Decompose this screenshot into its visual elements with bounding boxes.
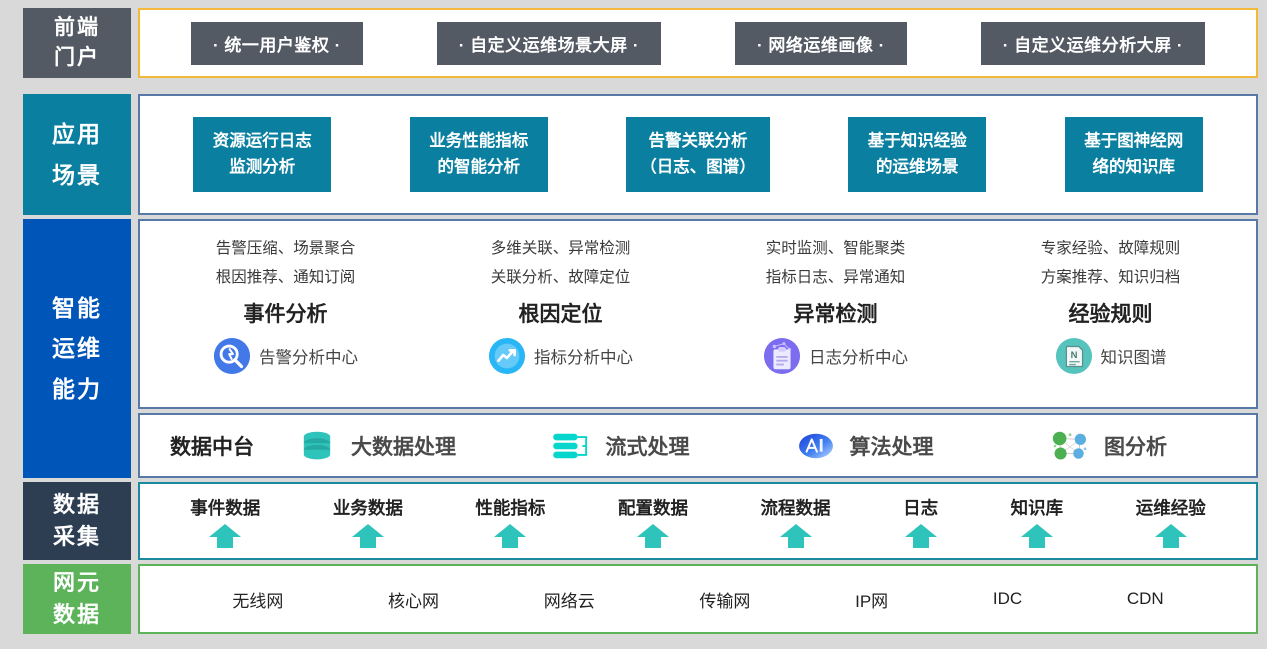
layer-label-data-collection: 数据 采集 — [23, 482, 131, 560]
tile-line1: 基于图神经网 — [1079, 129, 1189, 155]
capability-column-root-cause: 多维关联、异常检测 关联分析、故障定位 根因定位 指标分析中心 — [423, 235, 698, 399]
collection-label: 知识库 — [1011, 495, 1064, 520]
capability-column-anomaly-detection: 实时监测、智能聚类 指标日志、异常通知 异常检测 — [698, 235, 973, 399]
metric-analysis-icon — [488, 337, 526, 375]
svg-text:N: N — [1070, 350, 1077, 361]
data-platform-title: 数据中台 — [170, 431, 254, 461]
data-platform-item-graph[interactable]: 图分析 — [986, 430, 1230, 462]
layer-label-aiops-line1: 智能 — [52, 288, 102, 328]
app-scenario-tile[interactable]: 告警关联分析 （日志、图谱） — [626, 117, 770, 192]
capability-desc-line1: 多维关联、异常检测 — [491, 235, 631, 264]
layer-label-aiops-line2: 运维 — [52, 328, 102, 368]
arrow-up-icon — [779, 523, 813, 549]
capability-desc-line2: 方案推荐、知识归档 — [1041, 264, 1181, 293]
layer-label-collect-line2: 采集 — [53, 521, 101, 553]
arrow-up-icon — [904, 523, 938, 549]
data-platform-label: 大数据处理 — [351, 431, 456, 461]
collection-label: 性能指标 — [475, 495, 545, 520]
layer-label-aiops-line3: 能力 — [52, 369, 102, 409]
portal-chip-row: · 统一用户鉴权 · · 自定义运维场景大屏 · · 网络运维画像 · · 自定… — [140, 10, 1256, 76]
collection-item[interactable]: 业务数据 — [333, 495, 403, 549]
aiops-capability-row: 告警压缩、场景聚合 根因推荐、通知订阅 事件分析 告警分析中心 多维关联、异常 — [140, 221, 1256, 407]
portal-panel: · 统一用户鉴权 · · 自定义运维场景大屏 · · 网络运维画像 · · 自定… — [138, 8, 1258, 78]
network-element-row: 无线网 核心网 网络云 传输网 IP网 IDC CDN — [140, 566, 1256, 632]
capability-desc-line1: 专家经验、故障规则 — [1041, 235, 1181, 264]
collection-label: 配置数据 — [618, 495, 688, 520]
collection-item[interactable]: 运维经验 — [1136, 495, 1206, 549]
capability-column-event-analysis: 告警压缩、场景聚合 根因推荐、通知订阅 事件分析 告警分析中心 — [148, 235, 423, 399]
architecture-diagram: 前端 门户 · 统一用户鉴权 · · 自定义运维场景大屏 · · 网络运维画像 … — [0, 0, 1267, 649]
collection-item[interactable]: 日志 — [903, 495, 938, 549]
tile-line2: 的运维场景 — [862, 155, 972, 181]
data-platform-item-algorithm[interactable]: 算法处理 — [742, 430, 986, 462]
capability-desc-line2: 关联分析、故障定位 — [491, 264, 631, 293]
collection-label: 运维经验 — [1136, 495, 1206, 520]
data-collection-row: 事件数据 业务数据 性能指标 配置数据 流程数据 日志 — [140, 484, 1256, 558]
app-scenario-tile[interactable]: 资源运行日志 监测分析 — [193, 117, 331, 192]
capability-product[interactable]: 指标分析中心 — [488, 337, 633, 375]
tile-line2: 监测分析 — [207, 155, 317, 181]
layer-label-app-line1: 应用 — [52, 114, 102, 154]
collection-label: 日志 — [903, 495, 938, 520]
capability-product[interactable]: 告警分析中心 — [213, 337, 358, 375]
tile-line1: 业务性能指标 — [424, 129, 534, 155]
capability-product[interactable]: 日志分析中心 — [763, 337, 908, 375]
tile-line2: 的智能分析 — [424, 155, 534, 181]
portal-chip[interactable]: · 网络运维画像 · — [735, 22, 907, 65]
network-element-item[interactable]: CDN — [1127, 589, 1164, 609]
capability-product-label: 知识图谱 — [1101, 344, 1167, 368]
capability-column-experience-rules: 专家经验、故障规则 方案推荐、知识归档 经验规则 N 知识图谱 — [973, 235, 1248, 399]
tile-line1: 告警关联分析 — [640, 129, 756, 155]
network-element-item[interactable]: IDC — [993, 589, 1022, 609]
capability-title: 异常检测 — [794, 298, 878, 328]
data-platform-panel: 数据中台 大数据处理 — [138, 413, 1258, 478]
arrow-up-icon — [1020, 523, 1054, 549]
network-element-item[interactable]: 传输网 — [699, 587, 750, 612]
capability-desc-line2: 指标日志、异常通知 — [766, 264, 906, 293]
arrow-up-icon — [1154, 523, 1188, 549]
capability-product[interactable]: N 知识图谱 — [1055, 337, 1167, 375]
layer-label-netelem-line1: 网元 — [53, 567, 101, 599]
ai-icon — [795, 430, 837, 462]
aiops-capability-panel: 告警压缩、场景聚合 根因推荐、通知订阅 事件分析 告警分析中心 多维关联、异常 — [138, 219, 1258, 409]
arrow-up-icon — [208, 523, 242, 549]
tile-line1: 基于知识经验 — [862, 129, 972, 155]
arrow-up-icon — [351, 523, 385, 549]
layer-label-network-element: 网元 数据 — [23, 564, 131, 634]
collection-item[interactable]: 知识库 — [1011, 495, 1064, 549]
collection-label: 流程数据 — [761, 495, 831, 520]
app-scenario-panel: 资源运行日志 监测分析 业务性能指标 的智能分析 告警关联分析 （日志、图谱） … — [138, 94, 1258, 215]
tile-line1: 资源运行日志 — [207, 129, 317, 155]
layer-label-app-scenario: 应用 场景 — [23, 94, 131, 215]
capability-title: 事件分析 — [244, 298, 328, 328]
portal-chip[interactable]: · 统一用户鉴权 · — [191, 22, 363, 65]
collection-item[interactable]: 流程数据 — [761, 495, 831, 549]
layer-label-collect-line1: 数据 — [53, 489, 101, 521]
capability-product-label: 指标分析中心 — [534, 344, 633, 368]
collection-item[interactable]: 事件数据 — [190, 495, 260, 549]
app-scenario-tile[interactable]: 业务性能指标 的智能分析 — [410, 117, 548, 192]
capability-desc-line1: 实时监测、智能聚类 — [766, 235, 906, 264]
layer-label-portal-line1: 前端 — [54, 13, 100, 43]
stream-icon — [551, 430, 593, 462]
tile-line2: 络的知识库 — [1079, 155, 1189, 181]
collection-label: 事件数据 — [190, 495, 260, 520]
layer-label-netelem-line2: 数据 — [53, 599, 101, 631]
data-collection-panel: 事件数据 业务数据 性能指标 配置数据 流程数据 日志 — [138, 482, 1258, 560]
layer-label-portal: 前端 门户 — [23, 8, 131, 78]
database-icon — [296, 430, 338, 462]
collection-label: 业务数据 — [333, 495, 403, 520]
capability-title: 经验规则 — [1069, 298, 1153, 328]
capability-desc-line1: 告警压缩、场景聚合 — [216, 235, 356, 264]
network-element-item[interactable]: IP网 — [855, 587, 888, 612]
data-platform-label: 算法处理 — [850, 431, 934, 461]
capability-desc-line2: 根因推荐、通知订阅 — [216, 264, 356, 293]
app-scenario-tile[interactable]: 基于图神经网 络的知识库 — [1065, 117, 1203, 192]
portal-chip[interactable]: · 自定义运维场景大屏 · — [437, 22, 661, 65]
data-platform-label: 流式处理 — [606, 431, 690, 461]
network-element-panel: 无线网 核心网 网络云 传输网 IP网 IDC CDN — [138, 564, 1258, 634]
app-scenario-row: 资源运行日志 监测分析 业务性能指标 的智能分析 告警关联分析 （日志、图谱） … — [140, 96, 1256, 213]
layer-label-app-line2: 场景 — [52, 155, 102, 195]
network-element-item[interactable]: 无线网 — [232, 587, 283, 612]
arrow-up-icon — [636, 523, 670, 549]
collection-item[interactable]: 配置数据 — [618, 495, 688, 549]
tile-line2: （日志、图谱） — [640, 155, 756, 181]
graph-network-icon — [1049, 430, 1091, 462]
log-analysis-icon — [763, 337, 801, 375]
network-element-item[interactable]: 核心网 — [388, 587, 439, 612]
capability-product-label: 日志分析中心 — [809, 344, 908, 368]
data-platform-item-stream[interactable]: 流式处理 — [498, 430, 742, 462]
layer-label-aiops: 智能 运维 能力 — [23, 219, 131, 478]
alarm-analysis-icon — [213, 337, 251, 375]
capability-title: 根因定位 — [519, 298, 603, 328]
network-element-item[interactable]: 网络云 — [544, 587, 595, 612]
capability-product-label: 告警分析中心 — [259, 344, 358, 368]
knowledge-graph-icon: N — [1055, 337, 1093, 375]
data-platform-row: 数据中台 大数据处理 — [140, 415, 1256, 476]
arrow-up-icon — [493, 523, 527, 549]
portal-chip[interactable]: · 自定义运维分析大屏 · — [981, 22, 1205, 65]
collection-item[interactable]: 性能指标 — [475, 495, 545, 549]
layer-label-portal-line2: 门户 — [54, 43, 100, 73]
data-platform-label: 图分析 — [1104, 431, 1167, 461]
app-scenario-tile[interactable]: 基于知识经验 的运维场景 — [848, 117, 986, 192]
data-platform-item-bigdata[interactable]: 大数据处理 — [254, 430, 498, 462]
